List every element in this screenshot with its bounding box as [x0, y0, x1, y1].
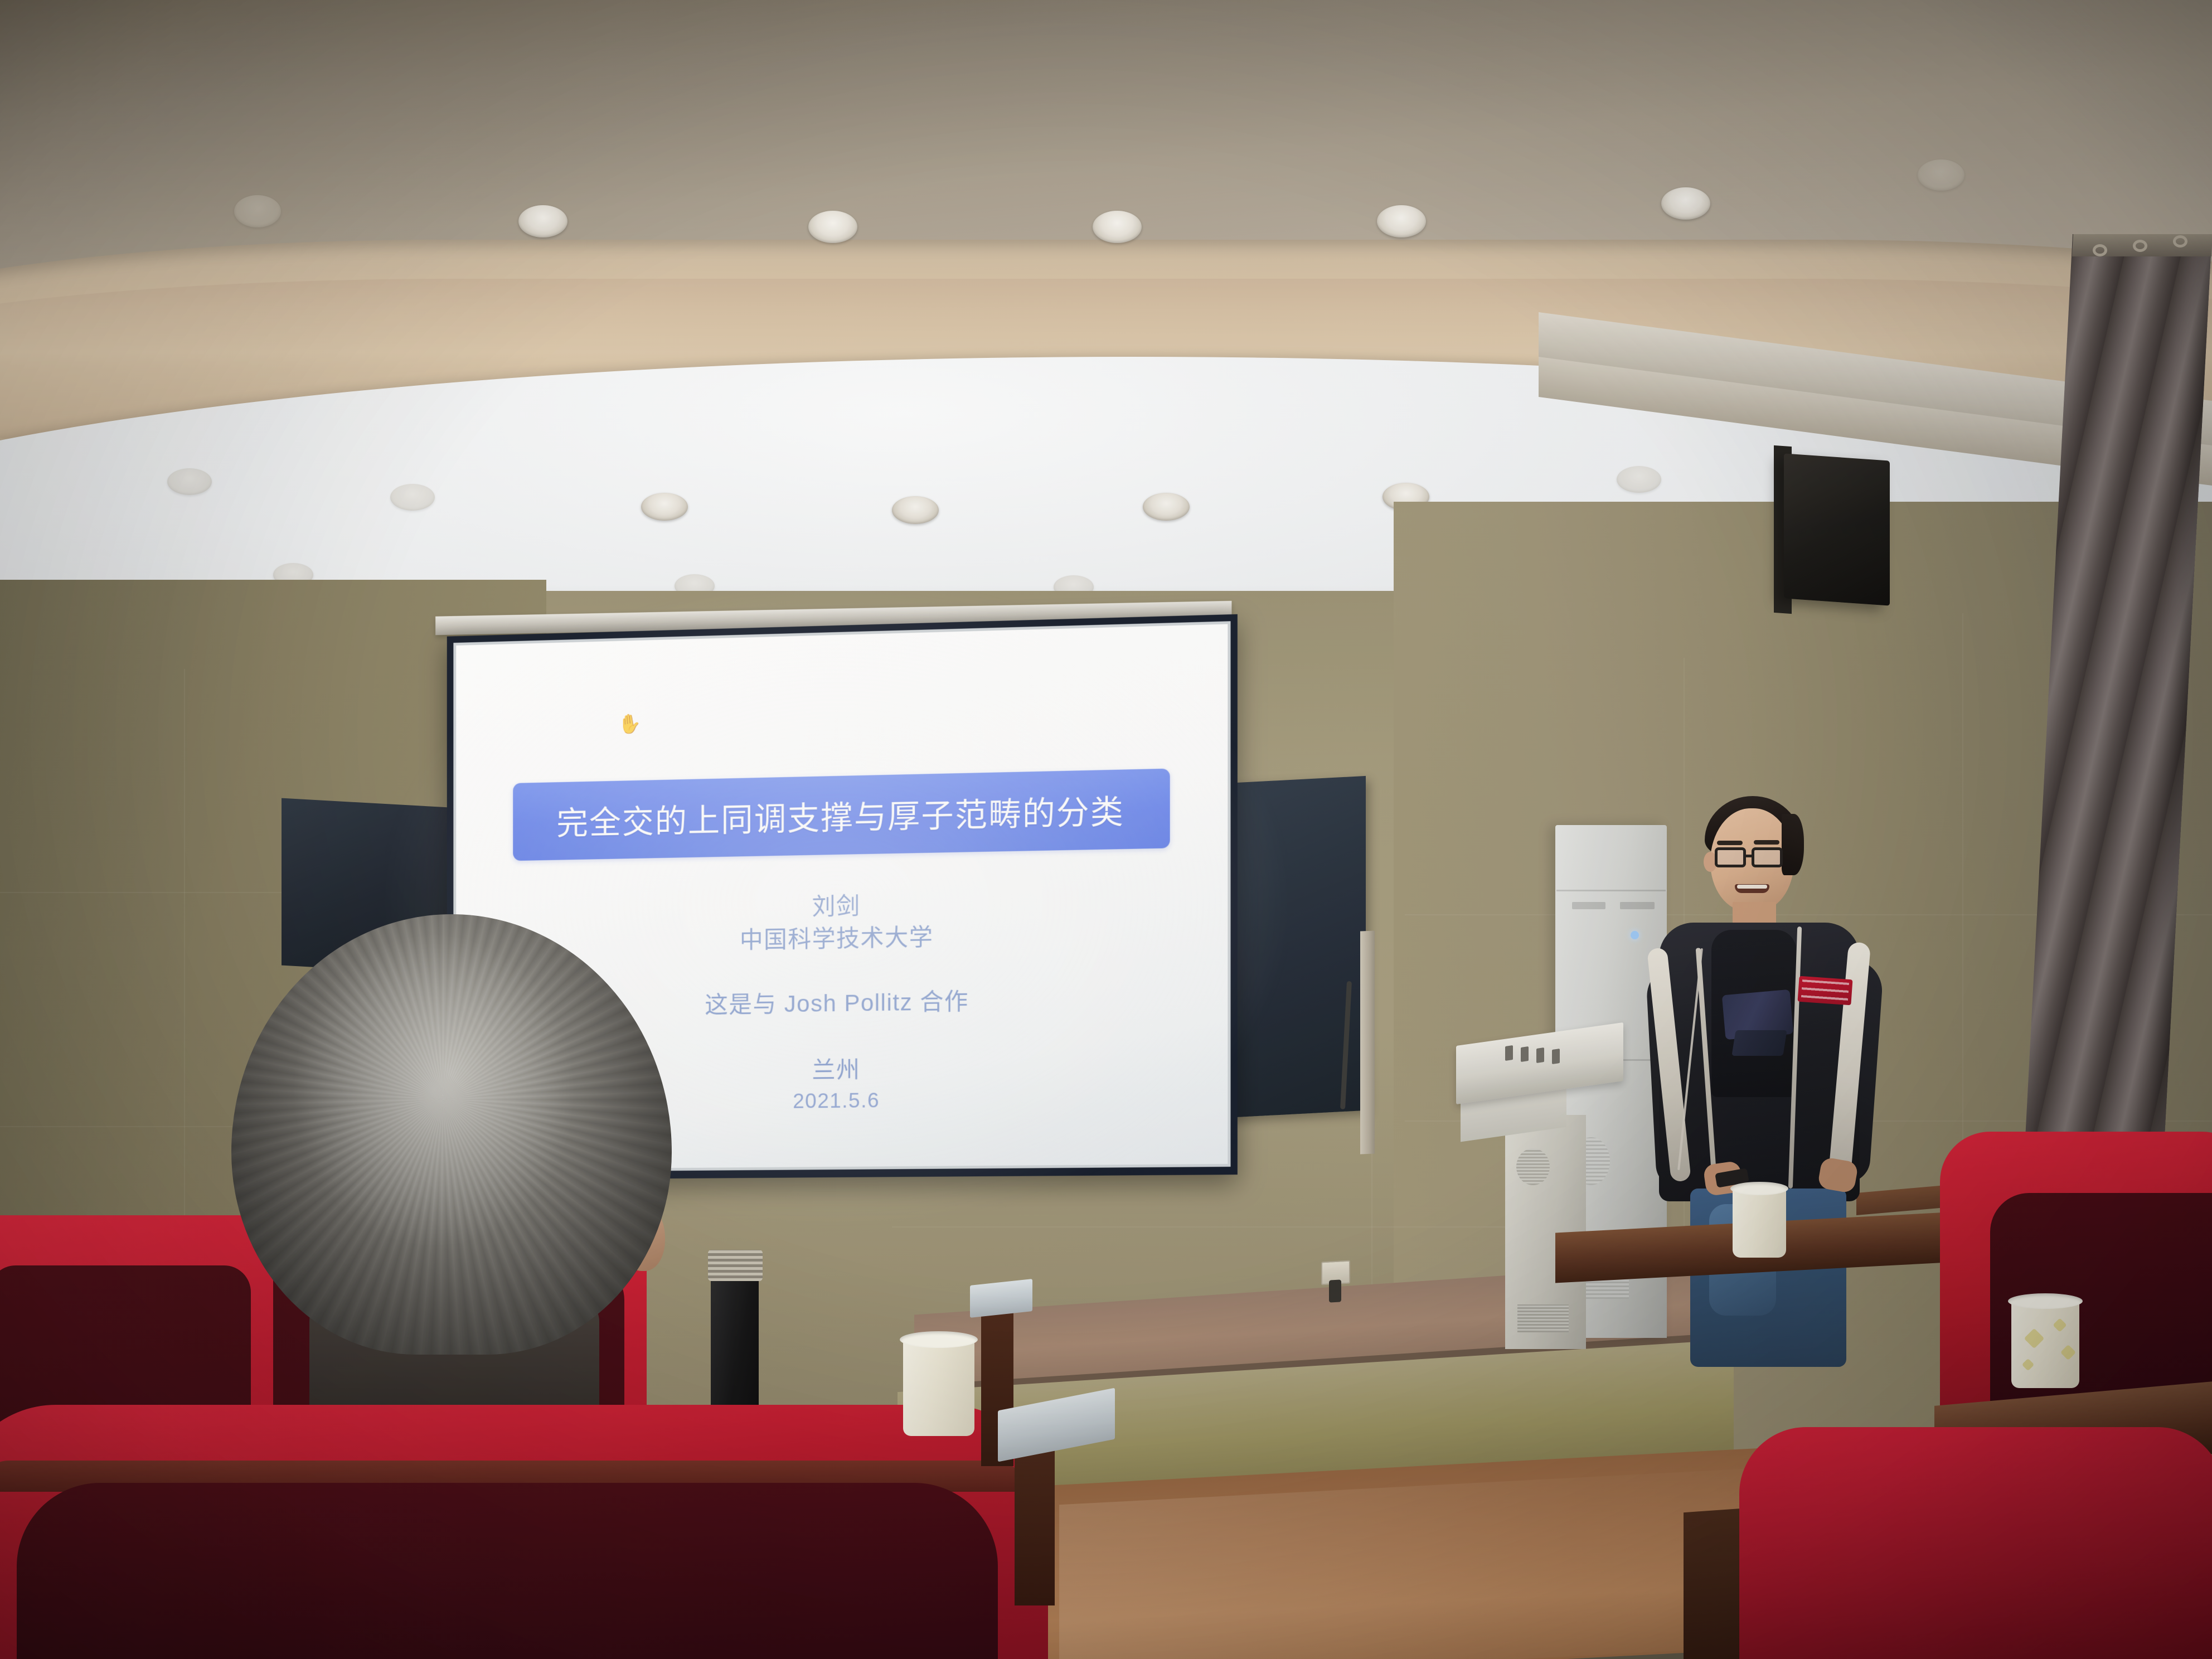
- slide-location: 兰州: [812, 1054, 861, 1087]
- thermos-cap: [708, 1250, 763, 1281]
- ceiling-downlight: [1093, 211, 1142, 243]
- lectern-button[interactable]: [1536, 1047, 1544, 1063]
- shirt-logo: [1731, 1030, 1787, 1056]
- ceiling-downlight: [234, 195, 281, 227]
- ceiling-downlight: [1661, 187, 1710, 220]
- lectern-vent-grille: [1517, 1304, 1569, 1332]
- paper-cup-patterned: [2011, 1299, 2079, 1388]
- slide-title: 完全交的上同调支撑与厚子范畴的分类: [556, 785, 1124, 844]
- wall-tile-seam: [184, 669, 185, 1226]
- lectern-vent-grille: [1516, 1148, 1550, 1185]
- ceiling-downlight: [1918, 159, 1964, 191]
- presenter-teeth: [1737, 885, 1767, 889]
- jacket-patch-text: [1801, 979, 1849, 1001]
- curtain-ring: [2173, 235, 2187, 248]
- ceiling-downlight: [892, 496, 939, 524]
- power-plug: [1329, 1279, 1341, 1302]
- ceiling-downlight: [518, 205, 567, 237]
- paper-cup-presenter: [1733, 1186, 1786, 1258]
- ceiling-downlight: [808, 211, 857, 243]
- lecture-hall-photo: ✋ 完全交的上同调支撑与厚子范畴的分类 刘剑 中国科学技术大学 这是与 Josh…: [0, 0, 2212, 1659]
- glasses-icon: [1752, 847, 1783, 867]
- paper-cup-rim: [2008, 1293, 2083, 1309]
- ceiling-downlight: [390, 484, 435, 511]
- lectern-button[interactable]: [1521, 1046, 1529, 1062]
- paper-cup-rim: [1730, 1182, 1788, 1195]
- lectern-button[interactable]: [1505, 1045, 1513, 1061]
- slide-collaboration: 这是与 Josh Pollitz 合作: [705, 986, 969, 1021]
- glasses-bridge: [1745, 855, 1754, 857]
- curtain-ring: [2133, 240, 2147, 252]
- armrest-writing-tablet[interactable]: [970, 1279, 1032, 1318]
- ceiling-downlight: [167, 468, 212, 495]
- presenter-eyebrow: [1717, 841, 1743, 845]
- curtain-ring: [2093, 244, 2107, 256]
- audience-member: [231, 914, 672, 1427]
- slide-title-bar: 完全交的上同调支撑与厚子范畴的分类: [513, 768, 1170, 861]
- wall-conduit: [1360, 931, 1375, 1154]
- slide-author: 刘剑: [812, 890, 861, 923]
- seat-front-cushion: [17, 1483, 998, 1659]
- wall-speaker-icon: [1784, 453, 1890, 605]
- glasses-icon: [1715, 847, 1746, 867]
- hand-grab-cursor-icon: ✋: [617, 713, 642, 735]
- ceiling-downlight: [1143, 493, 1190, 521]
- wall-tile-seam: [892, 1226, 1561, 1228]
- audience-hair-texture: [231, 914, 672, 1355]
- paper-cup-rim: [900, 1331, 978, 1348]
- slide-date: 2021.5.6: [793, 1086, 880, 1115]
- seat-right-front[interactable]: [1739, 1427, 2212, 1659]
- paper-cup-center: [903, 1338, 974, 1436]
- presenter-eyebrow: [1754, 840, 1779, 845]
- ceiling-downlight: [1617, 466, 1661, 493]
- ceiling-downlight: [641, 493, 688, 521]
- presenter-hair-side: [1782, 814, 1804, 875]
- lectern-button[interactable]: [1552, 1049, 1560, 1064]
- ceiling-downlight: [1377, 205, 1426, 237]
- slide-affiliation: 中国科学技术大学: [740, 921, 933, 957]
- ac-label: [1572, 902, 1605, 909]
